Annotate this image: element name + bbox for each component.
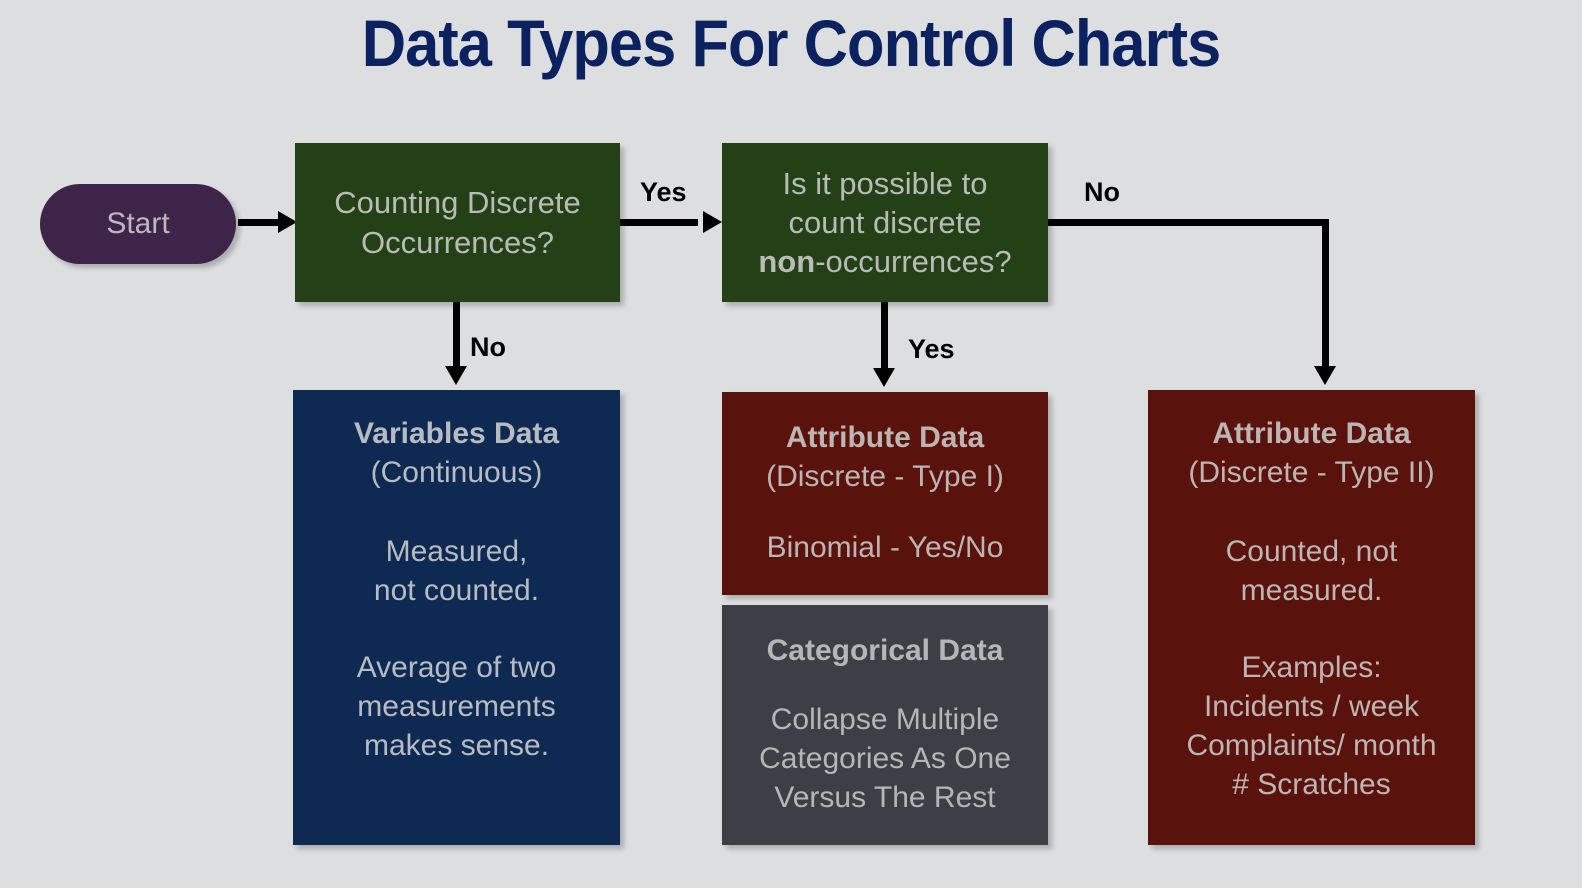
node-variables-data[interactable]: Variables Data (Continuous) Measured, no… [293, 390, 620, 845]
connector-decision2-yes [881, 302, 888, 374]
variables-data-subheading: (Continuous) [293, 453, 620, 492]
attribute-type2-body2-line4: # Scratches [1148, 765, 1475, 804]
attribute-type2-body2-line2: Incidents / week [1148, 687, 1475, 726]
node-start[interactable]: Start [40, 184, 236, 264]
decision2-line-3-bold: non [758, 244, 815, 279]
attribute-type2-body2-line3: Complaints/ month [1148, 726, 1475, 765]
connector-decision2-no-vertical [1322, 219, 1329, 371]
node-attribute-data-type-1[interactable]: Attribute Data (Discrete - Type I) Binom… [722, 392, 1048, 595]
attribute-type2-subheading: (Discrete - Type II) [1148, 453, 1475, 492]
variables-data-body2-line2: measurements [293, 687, 620, 726]
connector-decision1-no [453, 302, 460, 372]
decision1-line-1: Counting Discrete [295, 183, 620, 222]
edge-label-decision2-no: No [1084, 177, 1120, 208]
node-categorical-data[interactable]: Categorical Data Collapse Multiple Categ… [722, 605, 1048, 845]
decision2-line-2: count discrete [722, 203, 1048, 242]
node-start-label: Start [40, 207, 236, 241]
decision1-line-2: Occurrences? [295, 223, 620, 262]
node-attribute-data-type-2[interactable]: Attribute Data (Discrete - Type II) Coun… [1148, 390, 1475, 845]
attribute-type2-body2-line1: Examples: [1148, 648, 1475, 687]
variables-data-body1-line2: not counted. [293, 571, 620, 610]
categorical-data-heading: Categorical Data [722, 631, 1048, 670]
arrowhead-decision1-yes [703, 211, 722, 233]
attribute-type2-heading: Attribute Data [1148, 414, 1475, 453]
attribute-type1-subheading: (Discrete - Type I) [722, 457, 1048, 496]
edge-label-decision1-yes: Yes [640, 177, 687, 208]
arrowhead-decision1-no [445, 366, 467, 385]
attribute-type2-body1-line1: Counted, not [1148, 532, 1475, 571]
page-title: Data Types For Control Charts [55, 8, 1526, 79]
categorical-data-body-line2: Categories As One [722, 739, 1048, 778]
variables-data-heading: Variables Data [293, 414, 620, 453]
variables-data-body1-line1: Measured, [293, 532, 620, 571]
node-decision-counting-discrete-occurrences[interactable]: Counting Discrete Occurrences? [295, 143, 620, 302]
decision2-line-1: Is it possible to [722, 164, 1048, 203]
variables-data-body2-line3: makes sense. [293, 726, 620, 765]
connector-decision1-yes [620, 219, 698, 226]
arrowhead-decision2-no [1314, 366, 1336, 385]
flowchart-canvas: Data Types For Control Charts No Yes Yes… [0, 0, 1582, 888]
connector-decision2-no-horizontal [1048, 219, 1329, 226]
decision2-line-3: non-occurrences? [722, 242, 1048, 281]
attribute-type1-body1: Binomial - Yes/No [722, 528, 1048, 567]
categorical-data-body-line3: Versus The Rest [722, 778, 1048, 817]
attribute-type2-body1-line2: measured. [1148, 571, 1475, 610]
decision2-line-3-rest: -occurrences? [815, 244, 1011, 279]
edge-label-decision2-yes: Yes [908, 334, 955, 365]
categorical-data-body-line1: Collapse Multiple [722, 700, 1048, 739]
attribute-type1-heading: Attribute Data [722, 418, 1048, 457]
variables-data-body2-line1: Average of two [293, 648, 620, 687]
edge-label-decision1-no: No [470, 332, 506, 363]
node-decision-count-discrete-non-occurrences[interactable]: Is it possible to count discrete non-occ… [722, 143, 1048, 302]
arrowhead-decision2-yes [873, 368, 895, 387]
